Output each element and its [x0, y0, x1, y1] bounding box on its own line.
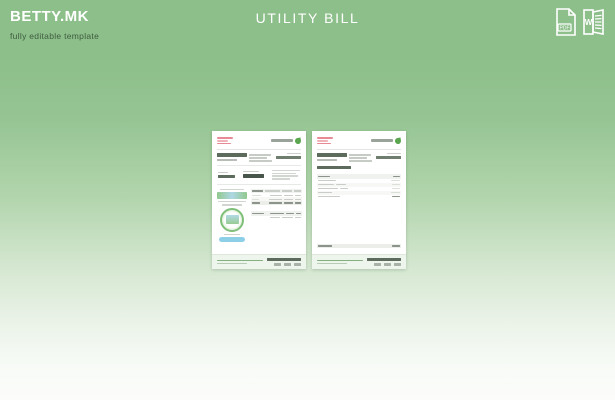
header-bar: BETTY.MK fully editable template UTILITY… — [0, 0, 615, 50]
footer-social-icons — [374, 263, 401, 266]
footer-contact-bar — [312, 254, 406, 269]
file-format-badges: PDF W — [555, 8, 605, 36]
bill-title-and-meta — [317, 153, 401, 162]
social-icon — [394, 263, 401, 266]
social-icon — [284, 263, 291, 266]
document-preview-page-2[interactable] — [312, 131, 406, 269]
bill-title — [217, 153, 247, 161]
svg-text:W: W — [585, 18, 593, 27]
svg-text:PDF: PDF — [560, 26, 570, 32]
brand-tagline: fully editable template — [10, 31, 99, 41]
pay-now-button[interactable] — [219, 237, 245, 243]
letterhead — [317, 135, 401, 146]
footer-contact-text — [317, 260, 363, 265]
usage-graph-chip — [217, 192, 247, 199]
document-preview-page-1[interactable] — [212, 131, 306, 269]
social-icon — [274, 263, 281, 266]
company-logo-icon — [317, 137, 333, 144]
bill-meta — [249, 153, 273, 162]
page-title: UTILITY BILL — [0, 10, 615, 26]
balance-row — [317, 244, 401, 248]
leaf-icon — [295, 137, 302, 144]
account-summary-meta — [275, 153, 301, 159]
usage-charges-table — [251, 189, 302, 206]
amount-due-cell — [243, 171, 265, 179]
section-heading — [317, 166, 401, 169]
social-icon — [384, 263, 391, 266]
company-logo-icon — [217, 137, 233, 144]
pdf-file-icon: PDF — [555, 8, 577, 36]
letterhead — [217, 135, 301, 146]
eco-seal-panel — [217, 189, 247, 243]
divider — [317, 149, 401, 150]
line-items-table — [317, 174, 401, 199]
footer-social-icons — [274, 263, 301, 266]
provider-wordmark — [271, 138, 301, 144]
table-total-row — [251, 201, 302, 205]
bill-meta — [349, 153, 373, 162]
table-row — [251, 216, 302, 220]
bill-title-and-meta — [217, 153, 301, 162]
account-summary-meta — [375, 153, 401, 159]
leaf-icon — [395, 137, 402, 144]
service-address-cell — [272, 170, 300, 180]
footer-phone-block — [267, 258, 301, 265]
page-body — [217, 189, 301, 243]
due-date-cell — [218, 172, 236, 178]
word-file-icon: W — [583, 8, 605, 36]
divider — [217, 149, 301, 150]
social-icon — [294, 263, 301, 266]
table-row — [317, 195, 401, 199]
eco-certification-seal — [220, 208, 244, 232]
footer-phone-block — [367, 258, 401, 265]
provider-wordmark — [371, 138, 401, 144]
amount-due-summary-band — [217, 165, 301, 185]
bill-title — [317, 153, 347, 161]
footer-contact-text — [217, 260, 263, 265]
totals-table — [251, 211, 302, 220]
footer-contact-bar — [212, 254, 306, 269]
social-icon — [374, 263, 381, 266]
